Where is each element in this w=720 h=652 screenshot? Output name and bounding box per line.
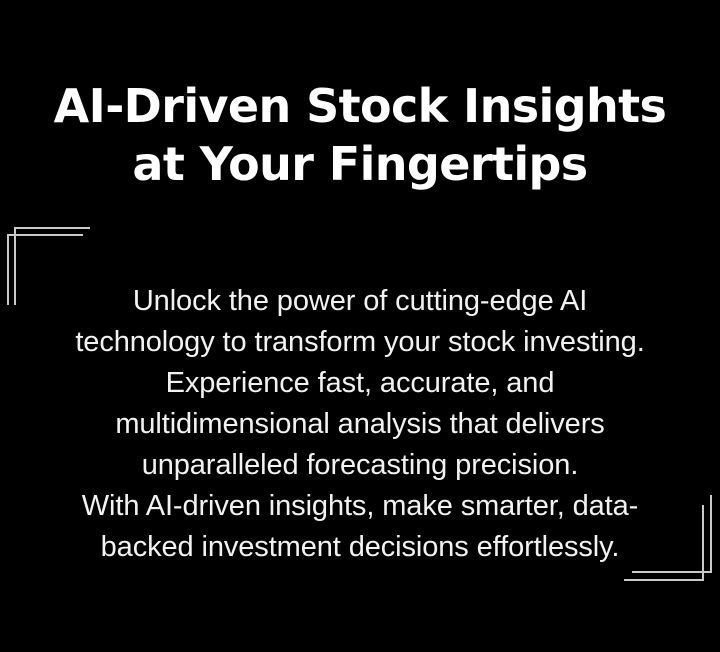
bracket-inner-horizontal-line <box>624 579 704 581</box>
bracket-inner-horizontal-line <box>7 234 83 236</box>
poster-canvas: AI-Driven Stock Insights at Your Fingert… <box>0 0 720 652</box>
body-paragraph: Unlock the power of cutting-edge AI tech… <box>0 281 720 568</box>
bracket-outer-horizontal-line <box>14 227 90 229</box>
page-title: AI-Driven Stock Insights at Your Fingert… <box>0 77 720 193</box>
bracket-outer-horizontal-line <box>632 571 712 573</box>
